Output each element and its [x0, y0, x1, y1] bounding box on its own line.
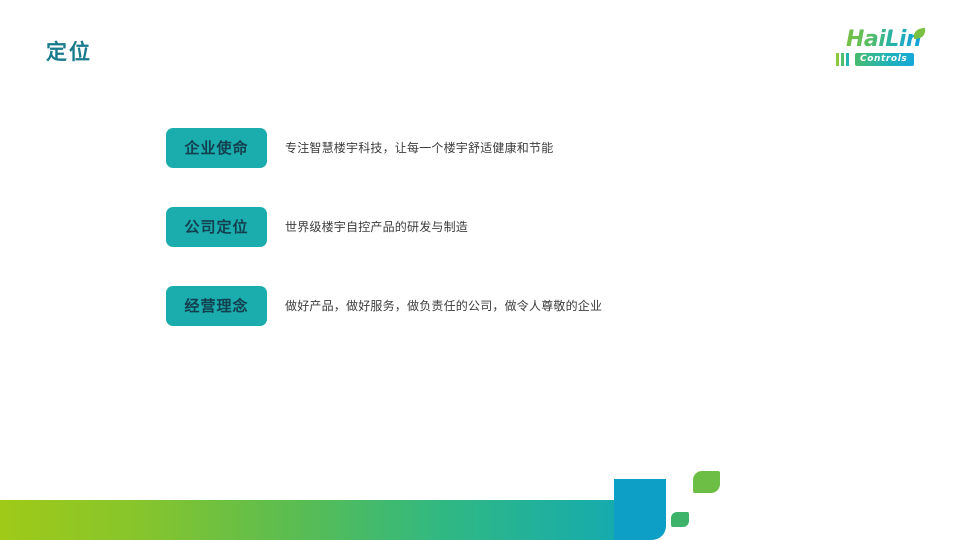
row-description: 专注智慧楼宇科技，让每一个楼宇舒适健康和节能: [285, 140, 553, 157]
badge-label: 公司定位: [184, 220, 248, 235]
badge-label: 经营理念: [184, 299, 248, 314]
badge-label: 企业使命: [184, 141, 248, 156]
positioning-list: 企业使命 专注智慧楼宇科技，让每一个楼宇舒适健康和节能 公司定位 世界级楼宇自控…: [166, 128, 866, 326]
badge-corporate-mission: 企业使命: [166, 128, 267, 168]
footer-riser-block: [614, 479, 666, 540]
logo-wordmark: HaiLin: [846, 28, 921, 52]
list-item: 经营理念 做好产品，做好服务，做负责任的公司，做令人尊敬的企业: [166, 286, 866, 326]
footer-gradient-bar: [0, 500, 640, 540]
badge-business-philosophy: 经营理念: [166, 286, 267, 326]
page-title: 定位: [46, 42, 92, 63]
list-item: 企业使命 专注智慧楼宇科技，让每一个楼宇舒适健康和节能: [166, 128, 866, 168]
leaf-decoration-large-icon: [693, 471, 720, 493]
slide-canvas: 定位 HaiLin Controls 企业使命 专注智慧楼宇科技，让每一个楼宇舒…: [0, 0, 960, 540]
signal-bars-icon: [836, 53, 853, 66]
badge-company-positioning: 公司定位: [166, 207, 267, 247]
row-description: 做好产品，做好服务，做负责任的公司，做令人尊敬的企业: [285, 298, 602, 315]
list-item: 公司定位 世界级楼宇自控产品的研发与制造: [166, 207, 866, 247]
leaf-decoration-small-icon: [671, 512, 689, 527]
company-logo: HaiLin Controls: [836, 28, 932, 70]
row-description: 世界级楼宇自控产品的研发与制造: [285, 219, 468, 236]
logo-subtitle: Controls: [855, 53, 914, 66]
